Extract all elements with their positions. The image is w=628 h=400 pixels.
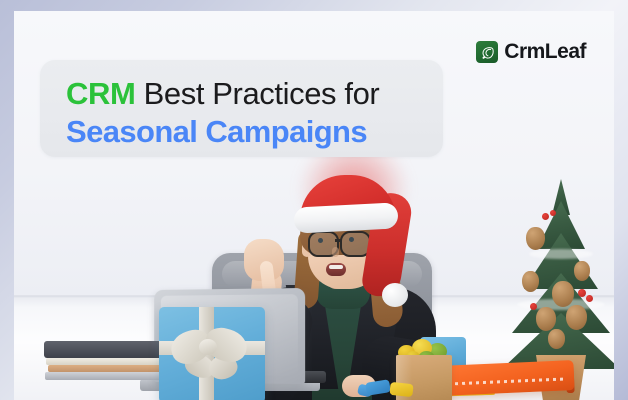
- desk-trinket: [389, 382, 413, 397]
- pine-cone-icon: [526, 227, 545, 250]
- pine-cone-icon: [522, 271, 539, 292]
- book-item: [45, 372, 167, 380]
- eyeglasses-bridge: [335, 239, 341, 242]
- brand-name: CrmLeaf: [504, 40, 586, 64]
- santa-hat-brim: [293, 202, 398, 233]
- berry-icon: [550, 210, 556, 216]
- berry-icon: [530, 303, 537, 310]
- book-item: [44, 341, 168, 358]
- berry-icon: [578, 289, 586, 297]
- wrapping-paper-roll-icon: [439, 360, 574, 396]
- pine-cone-icon: [536, 307, 556, 331]
- page-title: CRM Best Practices for Seasonal Campaign…: [66, 75, 446, 151]
- hand-left: [244, 239, 284, 281]
- book-item: [46, 358, 166, 365]
- gift-box-icon: [159, 307, 265, 400]
- headline-line1-rest: Best Practices for: [135, 76, 379, 111]
- gift-bow-knot: [199, 339, 217, 355]
- book-stack-icon: [44, 341, 168, 381]
- headline-accent-word: CRM: [66, 76, 135, 111]
- pine-cone-icon: [548, 329, 565, 349]
- pine-cone-icon: [574, 261, 590, 281]
- mouth: [326, 263, 346, 276]
- berry-icon: [542, 213, 549, 220]
- pine-cone-icon: [566, 305, 587, 330]
- santa-hat-pompom: [382, 283, 408, 307]
- tree-frost: [529, 249, 593, 259]
- banner-canvas: CRM Best Practices for Seasonal Campaign…: [14, 11, 614, 400]
- banner-root: CRM Best Practices for Seasonal Campaign…: [0, 0, 628, 400]
- pine-cone-icon: [552, 281, 574, 307]
- leaf-c-icon: [476, 41, 498, 63]
- headline-line2: Seasonal Campaigns: [66, 113, 446, 151]
- brand-logo[interactable]: CrmLeaf: [476, 40, 586, 64]
- berry-icon: [586, 295, 593, 302]
- eye-left: [318, 238, 323, 243]
- eye-right: [349, 237, 354, 242]
- nose: [332, 247, 339, 257]
- book-item: [48, 365, 166, 372]
